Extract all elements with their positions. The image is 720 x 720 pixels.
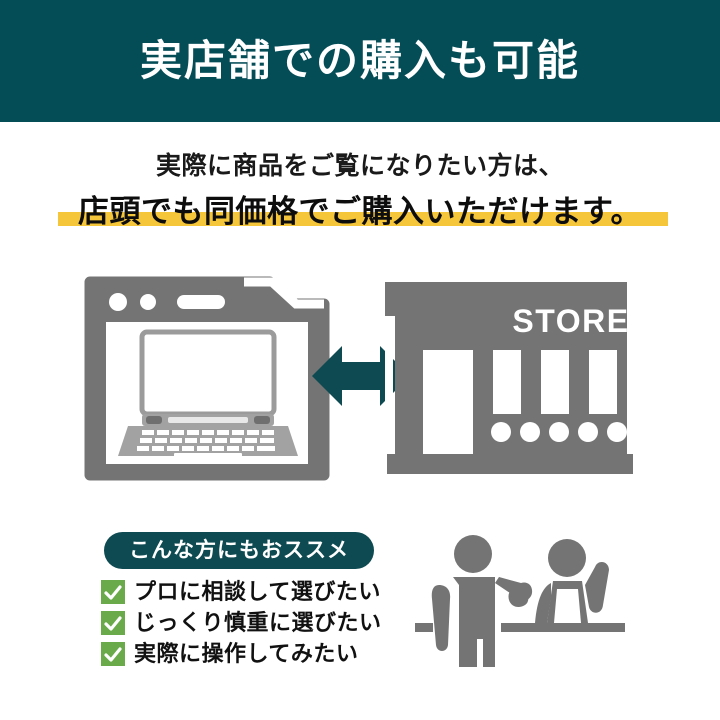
promo-graphic: 実店舗での購入も可能 実際に商品をご覧になりたい方は、 店頭でも同価格でご購入い… — [0, 0, 720, 720]
recommend-list: プロに相談して選びたい じっくり慎重に選びたい 実際に操作してみたい — [101, 577, 401, 670]
subtitle-block: 実際に商品をご覧になりたい方は、 店頭でも同価格でご購入いただけます。 — [0, 122, 720, 240]
subtitle-line-1: 実際に商品をご覧になりたい方は、 — [0, 146, 720, 182]
check-mark-icon — [101, 642, 125, 666]
subtitle-line-2-wrap: 店頭でも同価格でご購入いただけます。 — [0, 186, 720, 234]
page-title: 実店舗での購入も可能 — [140, 40, 580, 82]
check-mark-icon — [101, 611, 125, 635]
recommend-badge: こんな方にもおススメ — [104, 532, 374, 569]
list-item: じっくり慎重に選びたい — [101, 608, 401, 638]
illustration-row: STORE — [0, 262, 720, 487]
list-item-label: じっくり慎重に選びたい — [134, 612, 382, 634]
check-mark-icon — [101, 580, 125, 604]
recommend-section: こんな方にもおススメ プロに相談して選びたい じっくり慎重に選びたい — [0, 515, 720, 690]
list-item-label: プロに相談して選びたい — [134, 581, 381, 603]
recommend-badge-label: こんな方にもおススメ — [129, 540, 349, 561]
header-band: 実店舗での購入も可能 — [0, 0, 720, 122]
list-item: プロに相談して選びたい — [101, 577, 401, 607]
list-item-label: 実際に操作してみたい — [134, 643, 358, 665]
list-item: 実際に操作してみたい — [101, 639, 401, 669]
people-at-counter-icon — [415, 527, 625, 677]
svg-text:STORE: STORE — [512, 303, 629, 339]
subtitle-line-2: 店頭でも同価格でご購入いただけます。 — [0, 186, 720, 231]
store-building-icon: STORE — [385, 274, 635, 482]
browser-window-icon — [84, 276, 330, 481]
